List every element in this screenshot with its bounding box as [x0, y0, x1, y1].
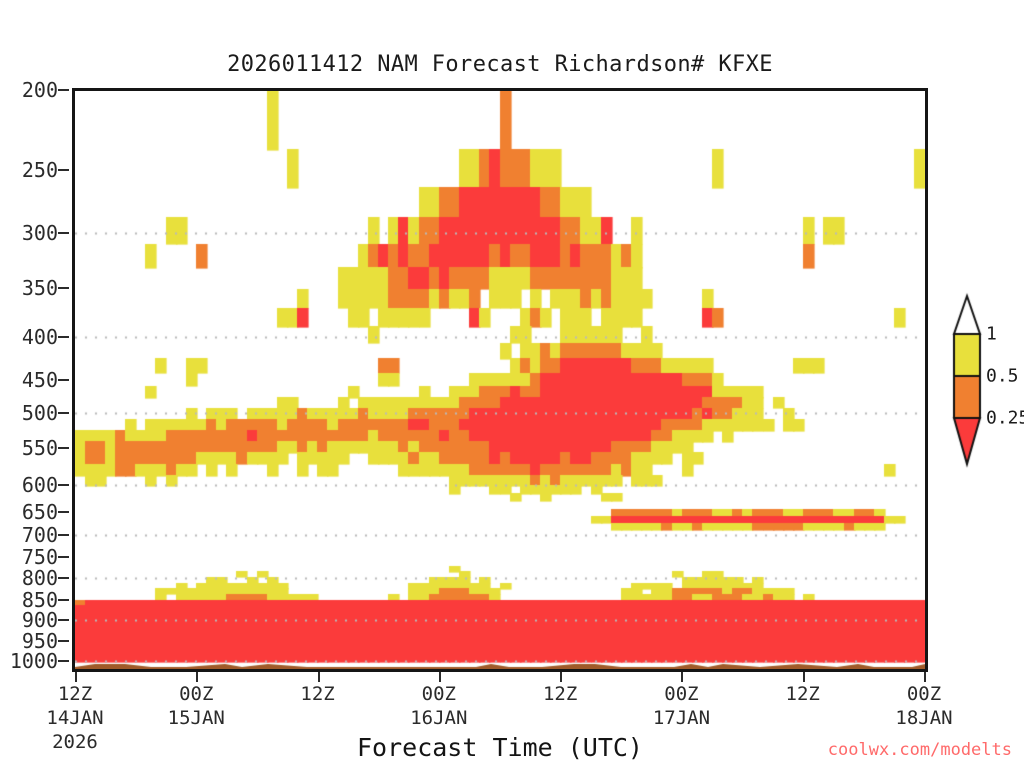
x-tick-mark [318, 672, 320, 682]
x-tick-label: 12Z [786, 682, 820, 706]
x-tick-label: 00Z17JAN [653, 682, 710, 730]
x-tick-mark [560, 672, 562, 682]
x-tick-time: 00Z [410, 682, 467, 706]
x-tick-time: 12Z [300, 682, 334, 706]
x-tick-date: 18JAN [895, 706, 952, 730]
x-tick-date: 16JAN [410, 706, 467, 730]
x-axis: 12Z14JAN202600Z15JAN12Z00Z16JAN12Z00Z17J… [0, 0, 1024, 768]
x-tick-date: 14JAN [46, 706, 103, 730]
chart-page: 2026011412 NAM Forecast Richardson# KFXE… [0, 0, 1024, 768]
x-tick-time: 00Z [168, 682, 225, 706]
watermark: coolwx.com/modelts [828, 740, 1012, 760]
x-tick-mark [439, 672, 441, 682]
colorbar-tick-label: 0.25 [986, 408, 1024, 429]
x-tick-mark [924, 672, 926, 682]
x-tick-mark [196, 672, 198, 682]
x-tick-mark [75, 672, 77, 682]
x-tick-time: 12Z [786, 682, 820, 706]
x-tick-time: 12Z [46, 682, 103, 706]
x-tick-time: 00Z [895, 682, 952, 706]
x-tick-label: 00Z15JAN [168, 682, 225, 730]
x-tick-date: 15JAN [168, 706, 225, 730]
x-tick-date: 17JAN [653, 706, 710, 730]
colorbar-tick-label: 1 [986, 324, 997, 345]
x-tick-label: 00Z16JAN [410, 682, 467, 730]
x-tick-label: 12Z [300, 682, 334, 706]
x-tick-time: 12Z [543, 682, 577, 706]
x-axis-title: Forecast Time (UTC) [72, 733, 928, 762]
colorbar-tick-label: 0.5 [986, 366, 1019, 387]
colorbar: 10.50.25 [938, 292, 1024, 472]
x-tick-mark [681, 672, 683, 682]
x-tick-label: 00Z18JAN [895, 682, 952, 730]
x-tick-mark [803, 672, 805, 682]
x-tick-label: 12Z [543, 682, 577, 706]
x-tick-time: 00Z [653, 682, 710, 706]
